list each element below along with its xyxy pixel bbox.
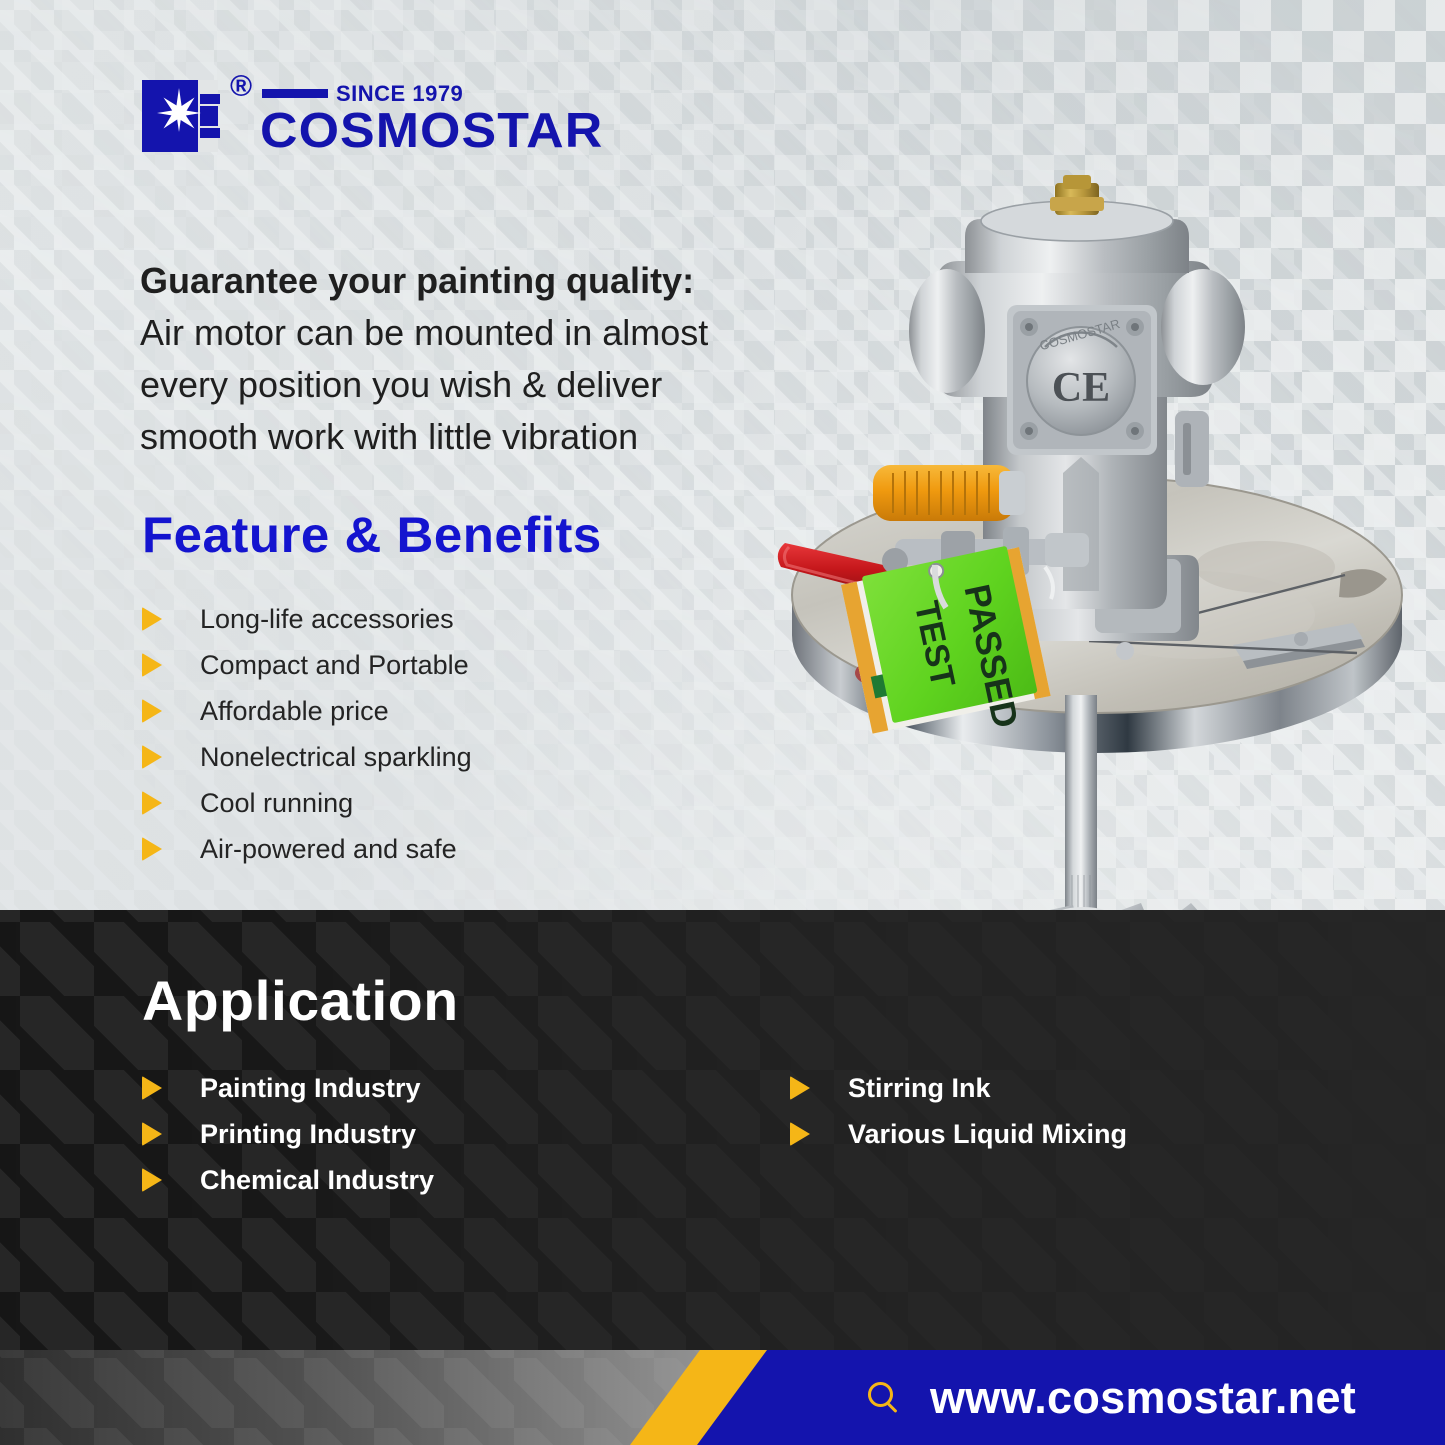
list-item: Compact and Portable (142, 642, 702, 688)
application-label: Printing Industry (200, 1119, 416, 1150)
registered-trademark-symbol: ® (230, 72, 252, 102)
mixer-shaft (1065, 695, 1097, 927)
triangle-bullet-icon (790, 1076, 810, 1100)
triangle-bullet-icon (142, 745, 162, 769)
website-link[interactable]: www.cosmostar.net (868, 1350, 1356, 1445)
triangle-bullet-icon (142, 1168, 162, 1192)
headline-line-2: Air motor can be mounted in almost (140, 307, 830, 359)
list-item: Air-powered and safe (142, 826, 702, 872)
triangle-bullet-icon (790, 1122, 810, 1146)
list-item: Stirring Ink (790, 1065, 1127, 1111)
magnifier-icon (868, 1382, 900, 1414)
application-list-right: Stirring Ink Various Liquid Mixing (790, 1065, 1127, 1157)
features-heading: Feature & Benefits (142, 506, 602, 564)
application-list-left: Painting Industry Printing Industry Chem… (142, 1065, 434, 1203)
application-label: Various Liquid Mixing (848, 1119, 1127, 1150)
muffler (873, 465, 1025, 521)
list-item: Nonelectrical sparkling (142, 734, 702, 780)
triangle-bullet-icon (142, 837, 162, 861)
list-item: Painting Industry (142, 1065, 434, 1111)
list-item: Printing Industry (142, 1111, 434, 1157)
application-panel: Application Painting Industry Printing I… (0, 910, 1445, 1350)
footer-bar: www.cosmostar.net (0, 1350, 1445, 1445)
website-url-text: www.cosmostar.net (930, 1372, 1356, 1424)
list-item: Various Liquid Mixing (790, 1111, 1127, 1157)
triangle-bullet-icon (142, 1122, 162, 1146)
features-list: Long-life accessories Compact and Portab… (142, 596, 702, 872)
cosmostar-star-mark-icon (138, 76, 224, 156)
logo-brand-name: COSMOSTAR (260, 109, 603, 154)
triangle-bullet-icon (142, 699, 162, 723)
headline-line-3: every position you wish & deliver (140, 359, 830, 411)
application-heading: Application (142, 968, 459, 1033)
application-label: Chemical Industry (200, 1165, 434, 1196)
triangle-bullet-icon (142, 653, 162, 677)
triangle-bullet-icon (142, 1076, 162, 1100)
infographic-page: ® SINCE 1979 COSMOSTAR Guarantee your pa… (0, 0, 1445, 1445)
feature-label: Affordable price (200, 696, 389, 727)
list-item: Chemical Industry (142, 1157, 434, 1203)
feature-label: Air-powered and safe (200, 834, 457, 865)
feature-label: Compact and Portable (200, 650, 469, 681)
application-label: Painting Industry (200, 1073, 421, 1104)
list-item: Cool running (142, 780, 702, 826)
headline-block: Guarantee your painting quality: Air mot… (140, 255, 830, 463)
list-item: Long-life accessories (142, 596, 702, 642)
list-item: Affordable price (142, 688, 702, 734)
application-label: Stirring Ink (848, 1073, 991, 1104)
feature-label: Nonelectrical sparkling (200, 742, 472, 773)
headline-line-4: smooth work with little vibration (140, 411, 830, 463)
feature-label: Long-life accessories (200, 604, 454, 635)
feature-label: Cool running (200, 788, 353, 819)
headline-line-1: Guarantee your painting quality: (140, 255, 830, 307)
triangle-bullet-icon (142, 791, 162, 815)
logo-rule (262, 89, 328, 98)
triangle-bullet-icon (142, 607, 162, 631)
ce-mark-text: CE (1052, 365, 1110, 411)
logo-wordmark: SINCE 1979 COSMOSTAR (260, 81, 584, 156)
brand-logo[interactable]: ® SINCE 1979 COSMOSTAR (138, 76, 584, 156)
